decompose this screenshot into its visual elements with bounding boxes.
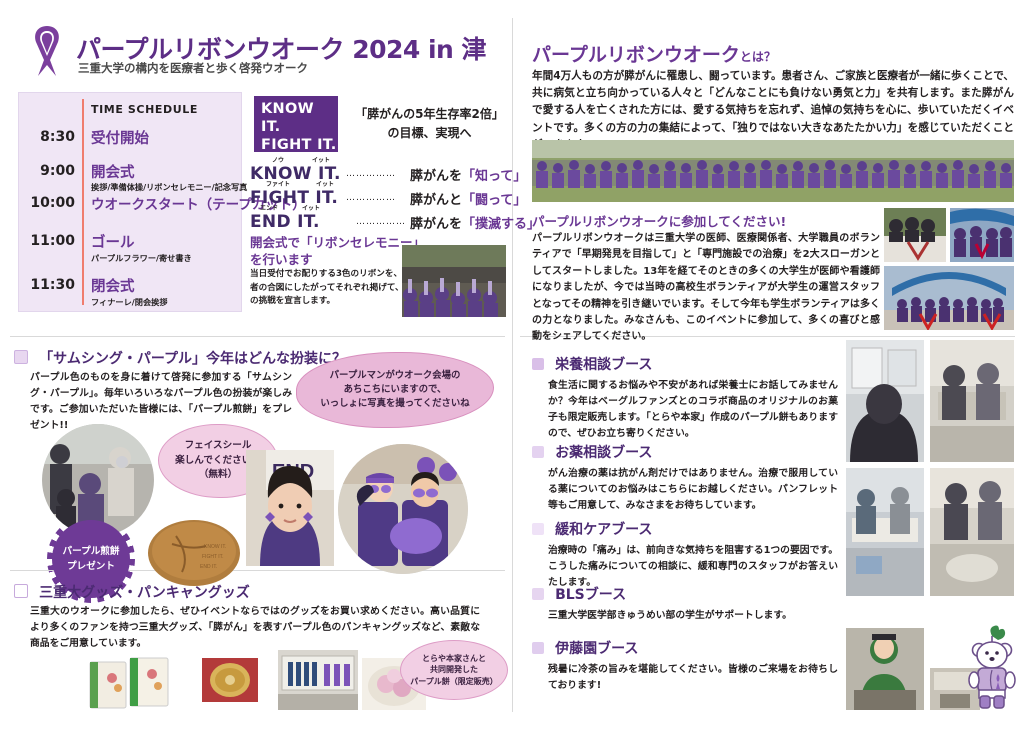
slogan-line-2: FIGHT IT. (261, 136, 338, 154)
booth-heading-palliative: 緩和ケアブース (532, 519, 652, 539)
schedule-time: 10:00 (23, 195, 75, 211)
join-photo-2 (950, 208, 1014, 262)
slogan-dots: …………… (346, 169, 396, 179)
goods-body: 三重大のウオークに参加したら、ぜひイベントならではのグッズをお買い求めください。… (30, 604, 480, 652)
join-photo-3 (884, 266, 1014, 330)
schedule-title: 受付開始 (91, 127, 149, 148)
pill-icon (532, 446, 544, 458)
slogan-row: ファイト イット FIGHT IT. …………… 膵がんと「闘って」 (250, 184, 510, 208)
booth-body-bls: 三重大学医学部きゅうめい部の学生がサポートします。 (548, 608, 838, 624)
ribbon-ceremony-photo (402, 245, 506, 317)
face-seal-girl-photo: END (246, 450, 334, 566)
booth-body-itoen: 残暑に冷茶の旨みを堪能してください。皆様のご来場をお待ちしております! (548, 662, 838, 694)
brochure-page: パープルリボンウオーク 2024 in 津 三重大学の構内を医療者と歩く啓発ウオ… (0, 0, 1023, 729)
purple-ribbon-icon (26, 24, 68, 82)
purple-mochi-speech-bubble: とらや本家さんと 共同開発した パープル餅（限定販売） (400, 640, 508, 700)
schedule-title: 開会式 (91, 161, 135, 182)
booth-body-nutrition: 食生活に関するお悩みや不安があれば栄養士にお話してみませんか？今年はベーグルファ… (548, 378, 838, 442)
goods-tin-photo (198, 654, 262, 706)
family-walk-photo (42, 424, 154, 536)
slogan-ja: 膵がんを「撲滅する」 (410, 213, 540, 232)
booth-photo-4 (930, 468, 1014, 596)
booth-heading-medicine: お薬相談ブース (532, 442, 652, 462)
booth-photo-1 (846, 340, 924, 462)
goods-booth-photo (278, 650, 358, 710)
slogan-line-1: KNOW IT. (261, 100, 338, 136)
slogan-en: END IT. (250, 212, 320, 232)
page-subtitle: 三重大学の構内を医療者と歩く啓発ウオーク (78, 60, 308, 76)
bear-mascot-icon (968, 622, 1016, 714)
schedule-title: 閉会式 (91, 275, 135, 296)
about-heading: パープルリボンウオークとは？ (532, 40, 776, 67)
booth-photo-3 (846, 468, 924, 596)
booth-photo-5 (846, 628, 924, 710)
booth-heading-itoen: 伊藤園ブース (532, 638, 638, 658)
svg-text:FIGHT IT.: FIGHT IT. (202, 554, 224, 560)
schedule-time: 11:00 (23, 233, 75, 249)
booth-body-medicine: がん治療の薬は抗がん剤だけではありません。治療で服用している薬についてのお悩みは… (548, 466, 838, 514)
goal-text: 「膵がんの5年生存率2倍」 の目標、実現へ (352, 105, 507, 143)
heart-icon (532, 523, 544, 535)
goods-packs-photo (86, 652, 182, 710)
square-icon (14, 584, 28, 598)
join-photo-1 (884, 208, 946, 262)
ruby-text: イット (316, 179, 334, 188)
booth-photo-2 (930, 340, 1014, 462)
booth-heading-nutrition: 栄養相談ブース (532, 354, 652, 374)
schedule-note: パープルフラワー/寄せ書き (91, 252, 192, 264)
join-heading: パープルリボンウオークに参加してください! (532, 211, 786, 230)
square-icon (532, 588, 544, 600)
group-panorama-photo (532, 140, 1014, 202)
schedule-note: フィナーレ/閉会挨拶 (91, 296, 168, 308)
ruby-text: ノウ (272, 155, 284, 164)
slogan-dots: …………… (346, 193, 396, 203)
slogan-ja: 膵がんと「闘って」 (410, 189, 526, 208)
schedule-time: 8:30 (23, 129, 75, 145)
svg-text:END IT.: END IT. (200, 564, 217, 570)
purple-cracker-photo: KNOW IT. FIGHT IT. END IT. (146, 518, 242, 588)
purple-man-duo-photo (338, 444, 468, 574)
schedule-time: 9:00 (23, 163, 75, 179)
purple-man-speech-bubble: パープルマンがウオーク会場の あちこちにいますので、 いっしょに写真を撮ってくだ… (296, 352, 494, 428)
join-body: パープルリボンウオークは三重大学の医師、医療関係者、大学職員のボランティアで「早… (532, 231, 880, 346)
schedule-heading: TIME SCHEDULE (91, 103, 198, 116)
slogan-ja: 膵がんを「知って」 (410, 165, 526, 184)
goods-heading: 三重大グッズ・パンキャングッズ (14, 582, 250, 602)
ruby-text: イット (302, 203, 320, 212)
svg-text:KNOW IT.: KNOW IT. (204, 544, 226, 550)
photo-square-icon (14, 350, 28, 364)
schedule-note: 挨拶/準備体操/リボンセレモニー/記念写真 (91, 181, 247, 193)
time-schedule-box: TIME SCHEDULE 8:30 受付開始 9:00 開会式 挨拶/準備体操… (18, 92, 242, 312)
schedule-rule (82, 99, 84, 305)
schedule-title: ゴール (91, 231, 135, 252)
booth-heading-bls: BLSブース (532, 584, 626, 604)
schedule-time: 11:30 (23, 277, 75, 293)
ruby-text: イット (312, 155, 330, 164)
column-divider (512, 18, 513, 712)
ruby-text: エンド (260, 203, 278, 212)
something-purple-heading: 「サムシング・パープル」今年はどんな扮装に？ (14, 348, 346, 368)
slogan-dots: …………… (356, 217, 406, 227)
tea-icon (532, 642, 544, 654)
sparkle-square-icon (532, 358, 544, 370)
something-purple-body: パープル色のものを身に着けて啓発に参加する「サムシング・パープル」。毎年いろいろ… (30, 370, 292, 434)
ruby-text: ファイト (266, 179, 290, 188)
slogan-explanations: ノウ イット KNOW IT. …………… 膵がんを「知って」 ファイト イット… (250, 160, 510, 232)
slogan-row: エンド イット END IT. …………… 膵がんを「撲滅する」 (250, 208, 510, 232)
left-section-divider (10, 336, 505, 337)
slogan-box: KNOW IT. FIGHT IT. END IT. (254, 96, 338, 152)
